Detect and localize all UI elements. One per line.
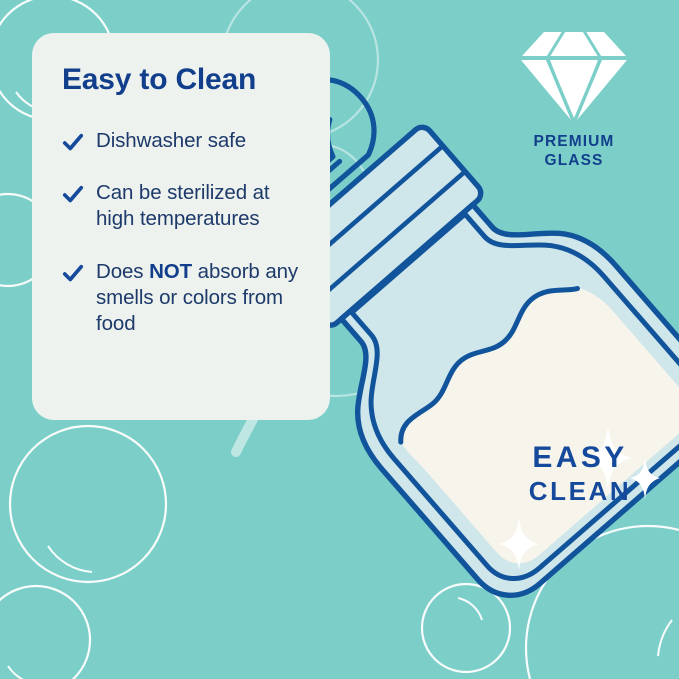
sparkle-group bbox=[0, 0, 679, 679]
easy-clean-line1: EASY bbox=[516, 443, 644, 473]
easy-clean-text: EASY CLEAN bbox=[516, 443, 644, 507]
infographic-canvas: Easy to Clean Dishwasher safe Can be ste… bbox=[0, 0, 679, 679]
sparkle-icon bbox=[499, 518, 539, 570]
easy-clean-line2: CLEAN bbox=[516, 477, 644, 507]
